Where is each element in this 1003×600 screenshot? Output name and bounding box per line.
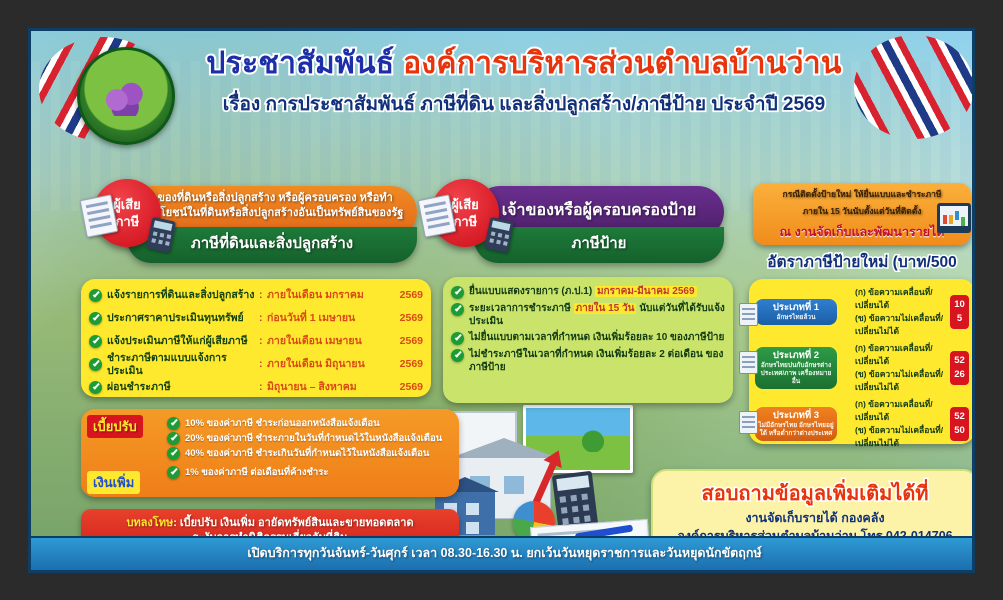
check-icon: [167, 417, 180, 430]
rate-values: 5250: [950, 407, 969, 441]
circle-line2: ภาษี: [453, 213, 477, 230]
check-icon: [451, 286, 464, 299]
land-tax-deadline: ภายในเดือน มิถุนายน: [267, 358, 387, 371]
penalty-panel: เบี้ยปรับ เงินเพิ่ม 10% ของค่าภาษี ชำระก…: [81, 409, 459, 497]
check-icon: [89, 335, 102, 348]
fine-text: 40% ของค่าภาษี ชำระเกินวันที่กำหนดไว้ในห…: [185, 447, 429, 460]
circle-line2: ภาษี: [115, 213, 139, 230]
rate-type-tab: ประเภทที่ 2 อักษรไทยปนกับอักษรต่างประเทศ…: [755, 347, 837, 389]
land-tax-year: 2569: [387, 312, 423, 325]
check-icon: [451, 349, 464, 362]
land-tax-deadline: ภายในเดือน เมษายน: [267, 335, 387, 348]
sanction-line1: : เบี้ยปรับ เงินเพิ่ม อายัดทรัพย์สินและข…: [173, 517, 413, 529]
sanction-tag: บทลงโทษ: [126, 517, 173, 529]
land-tax-year: 2569: [387, 381, 423, 394]
emblem-logo: [77, 47, 175, 145]
rate-type-desc: อักษรไทยล้วน: [757, 314, 835, 322]
chart-monitor-icon: [937, 203, 971, 233]
sign-tax-text: ยื่นแบบแสดงรายการ (ภ.ป.1) มกราคม-มีนาคม …: [469, 285, 697, 299]
rate-type-name: ประเภทที่ 1: [757, 302, 835, 314]
check-icon: [89, 312, 102, 325]
rate-values: 105: [950, 295, 969, 329]
rate-value: 10: [950, 298, 969, 312]
check-icon: [167, 447, 180, 460]
sign-tax-text: ระยะเวลาการชำระภาษี ภายใน 15 วัน นับแต่ว…: [469, 302, 725, 328]
illustration-collage: [435, 403, 665, 553]
rate-type-desc: ไม่มีอักษรไทย อักษรไทยอยู่ใต้ หรือต่ำกว่…: [757, 422, 835, 438]
check-icon: [451, 303, 464, 316]
rate-line: (ข) ข้อความไม่เคลื่อนที่/เปลี่ยนไม่ได้: [855, 368, 950, 394]
rate-value: 52: [950, 410, 969, 424]
poster-root: ประชาสัมพันธ์ องค์การบริหารส่วนตำบลบ้านว…: [28, 28, 975, 573]
land-tax-label: ผ่อนชำระภาษี: [107, 381, 259, 394]
circle-line1: ผู้เสีย: [451, 196, 479, 213]
land-tax-label: แจ้งรายการที่ดินและสิ่งปลูกสร้าง: [107, 289, 259, 302]
rate-type-tab: ประเภทที่ 3 ไม่มีอักษรไทย อักษรไทยอยู่ใต…: [755, 407, 837, 441]
colon: :: [259, 289, 267, 302]
sign-tax-text: ไม่ชำระภาษีในเวลาที่กำหนด เงินเพิ่มร้อยล…: [469, 348, 725, 374]
land-tax-label: ชำระภาษีตามแบบแจ้งการประเมิน: [107, 352, 259, 378]
sign-tax-rules-panel: ยื่นแบบแสดงรายการ (ภ.ป.1) มกราคม-มีนาคม …: [443, 277, 733, 403]
highlight: มกราคม-มีนาคม 2569: [595, 286, 697, 297]
thai-flag-ribbon-right-icon: [854, 35, 974, 139]
list-item: ไม่ยื่นแบบตามเวลาที่กำหนด เงินเพิ่มร้อยล…: [443, 328, 733, 345]
rate-values: 5226: [950, 351, 969, 385]
fine-text: 10% ของค่าภาษี ชำระก่อนออกหนังสือแจ้งเตื…: [185, 417, 380, 430]
rate-type-row: ประเภทที่ 1 อักษรไทยล้วน (ก) ข้อความเคลื…: [749, 282, 975, 338]
table-row: ผ่อนชำระภาษี : มิถุนายน – สิงหาคม 2569: [81, 376, 431, 399]
land-tax-year: 2569: [387, 358, 423, 371]
check-icon: [89, 289, 102, 302]
check-icon: [89, 381, 102, 394]
rate-value: 26: [950, 368, 969, 382]
page-title: ประชาสัมพันธ์ องค์การบริหารส่วนตำบลบ้านว…: [179, 49, 869, 79]
rate-type-name: ประเภทที่ 3: [757, 410, 835, 422]
calculator-icon: [552, 471, 598, 529]
land-tax-label: ประกาศราคาประเมินทุนทรัพย์: [107, 312, 259, 325]
rate-type-tab: ประเภทที่ 1 อักษรไทยล้วน: [755, 299, 837, 325]
rate-value: 52: [950, 354, 969, 368]
list-item: 40% ของค่าภาษี ชำระเกินวันที่กำหนดไว้ในห…: [81, 445, 459, 460]
extra-charge-text: 1% ของค่าภาษี ต่อเดือนที่ค้างชำระ: [185, 466, 328, 479]
rate-type-desc: อักษรไทยปนกับอักษรต่างประเทศ/ภาพ เครื่อง…: [757, 362, 835, 386]
notice-highlight: ณ งานจัดเก็บและพัฒนารายได้: [759, 222, 965, 241]
land-tax-deadline: ภายในเดือน มกราคม: [267, 289, 387, 302]
table-row: แจ้งประเมินภาษีให้แก่ผู้เสียภาษี : ภายใน…: [81, 330, 431, 353]
sign-tax-rate-table: ประเภทที่ 1 อักษรไทยล้วน (ก) ข้อความเคลื…: [749, 279, 975, 444]
rate-line: (ก) ข้อความเคลื่อนที่/เปลี่ยนได้: [855, 398, 950, 424]
land-tax-schedule-panel: แจ้งรายการที่ดินและสิ่งปลูกสร้าง : ภายใน…: [81, 279, 431, 397]
rate-value: 50: [950, 424, 969, 438]
table-row: ชำระภาษีตามแบบแจ้งการประเมิน : ภายในเดือ…: [81, 353, 431, 376]
rate-line: (ก) ข้อความเคลื่อนที่/เปลี่ยนได้: [855, 342, 950, 368]
title-blue-part: ประชาสัมพันธ์: [206, 47, 394, 80]
title-red-part: องค์การบริหารส่วนตำบลบ้านว่าน: [403, 47, 842, 80]
rate-value: 5: [950, 312, 969, 326]
circle-line1: ผู้เสีย: [113, 196, 141, 213]
colon: :: [259, 335, 267, 348]
poster-header: ประชาสัมพันธ์ องค์การบริหารส่วนตำบลบ้านว…: [31, 31, 975, 141]
land-tax-year: 2569: [387, 289, 423, 302]
rate-lines: (ก) ข้อความเคลื่อนที่/เปลี่ยนได้(ข) ข้อค…: [837, 398, 950, 450]
rate-lines: (ก) ข้อความเคลื่อนที่/เปลี่ยนได้(ข) ข้อค…: [837, 286, 950, 338]
check-icon: [167, 432, 180, 445]
rate-line: (ข) ข้อความไม่เคลื่อนที่/เปลี่ยนไม่ได้: [855, 424, 950, 450]
rate-type-row: ประเภทที่ 2 อักษรไทยปนกับอักษรต่างประเทศ…: [749, 338, 975, 394]
document-icon: [80, 194, 119, 237]
sign-tax-text: ไม่ยื่นแบบตามเวลาที่กำหนด เงินเพิ่มร้อยล…: [469, 331, 724, 345]
list-item: ยื่นแบบแสดงรายการ (ภ.ป.1) มกราคม-มีนาคม …: [443, 282, 733, 299]
taxpayer-badge-land-text: เจ้าของที่ดินหรือสิ่งปลูกสร้าง หรือผู้คร…: [127, 186, 417, 221]
list-item: ไม่ชำระภาษีในเวลาที่กำหนด เงินเพิ่มร้อยล…: [443, 345, 733, 374]
rate-type-row: ประเภทที่ 3 ไม่มีอักษรไทย อักษรไทยอยู่ใต…: [749, 394, 975, 450]
clipboard-icon: [739, 411, 758, 434]
fine-tag: เบี้ยปรับ: [87, 415, 143, 438]
table-row: แจ้งรายการที่ดินและสิ่งปลูกสร้าง : ภายใน…: [81, 284, 431, 307]
contact-heading: สอบถามข้อมูลเพิ่มเติมได้ที่: [653, 471, 975, 509]
colon: :: [259, 312, 267, 325]
list-item: ระยะเวลาการชำระภาษี ภายใน 15 วัน นับแต่ว…: [443, 299, 733, 328]
colon: :: [259, 381, 267, 394]
notice-line1: กรณีติดตั้งป้ายใหม่ ให้ยื่นแบบและชำระภาษ…: [753, 183, 971, 200]
fine-text: 20% ของค่าภาษี ชำระภายในวันที่กำหนดไว้ใน…: [185, 432, 442, 445]
land-tax-year: 2569: [387, 335, 423, 348]
clipboard-icon: [739, 303, 758, 326]
document-icon: [418, 194, 457, 237]
table-row: ประกาศราคาประเมินทุนทรัพย์ : ก่อนวันที่ …: [81, 307, 431, 330]
contact-line1: งานจัดเก็บรายได้ กองคลัง: [653, 509, 975, 527]
highlight: ภายใน 15 วัน: [574, 303, 637, 314]
clipboard-icon: [739, 351, 758, 374]
extra-charge-tag: เงินเพิ่ม: [87, 471, 140, 494]
rate-line: (ข) ข้อความไม่เคลื่อนที่/เปลี่ยนไม่ได้: [855, 312, 950, 338]
land-tax-deadline: มิถุนายน – สิงหาคม: [267, 381, 387, 394]
page-subtitle: เรื่อง การประชาสัมพันธ์ ภาษีที่ดิน และสิ…: [179, 89, 869, 119]
rate-line: (ก) ข้อความเคลื่อนที่/เปลี่ยนได้: [855, 286, 950, 312]
land-tax-deadline: ก่อนวันที่ 1 เมษายน: [267, 312, 387, 325]
check-icon: [167, 466, 180, 479]
office-hours-bar: เปิดบริการทุกวันจันทร์-วันศุกร์ เวลา 08.…: [31, 536, 975, 570]
office-hours-text: เปิดบริการทุกวันจันทร์-วันศุกร์ เวลา 08.…: [31, 538, 975, 568]
colon: :: [259, 358, 267, 371]
land-tax-label: แจ้งประเมินภาษีให้แก่ผู้เสียภาษี: [107, 335, 259, 348]
check-icon: [89, 358, 102, 371]
check-icon: [451, 332, 464, 345]
rate-lines: (ก) ข้อความเคลื่อนที่/เปลี่ยนได้(ข) ข้อค…: [837, 342, 950, 394]
rate-type-name: ประเภทที่ 2: [757, 350, 835, 362]
